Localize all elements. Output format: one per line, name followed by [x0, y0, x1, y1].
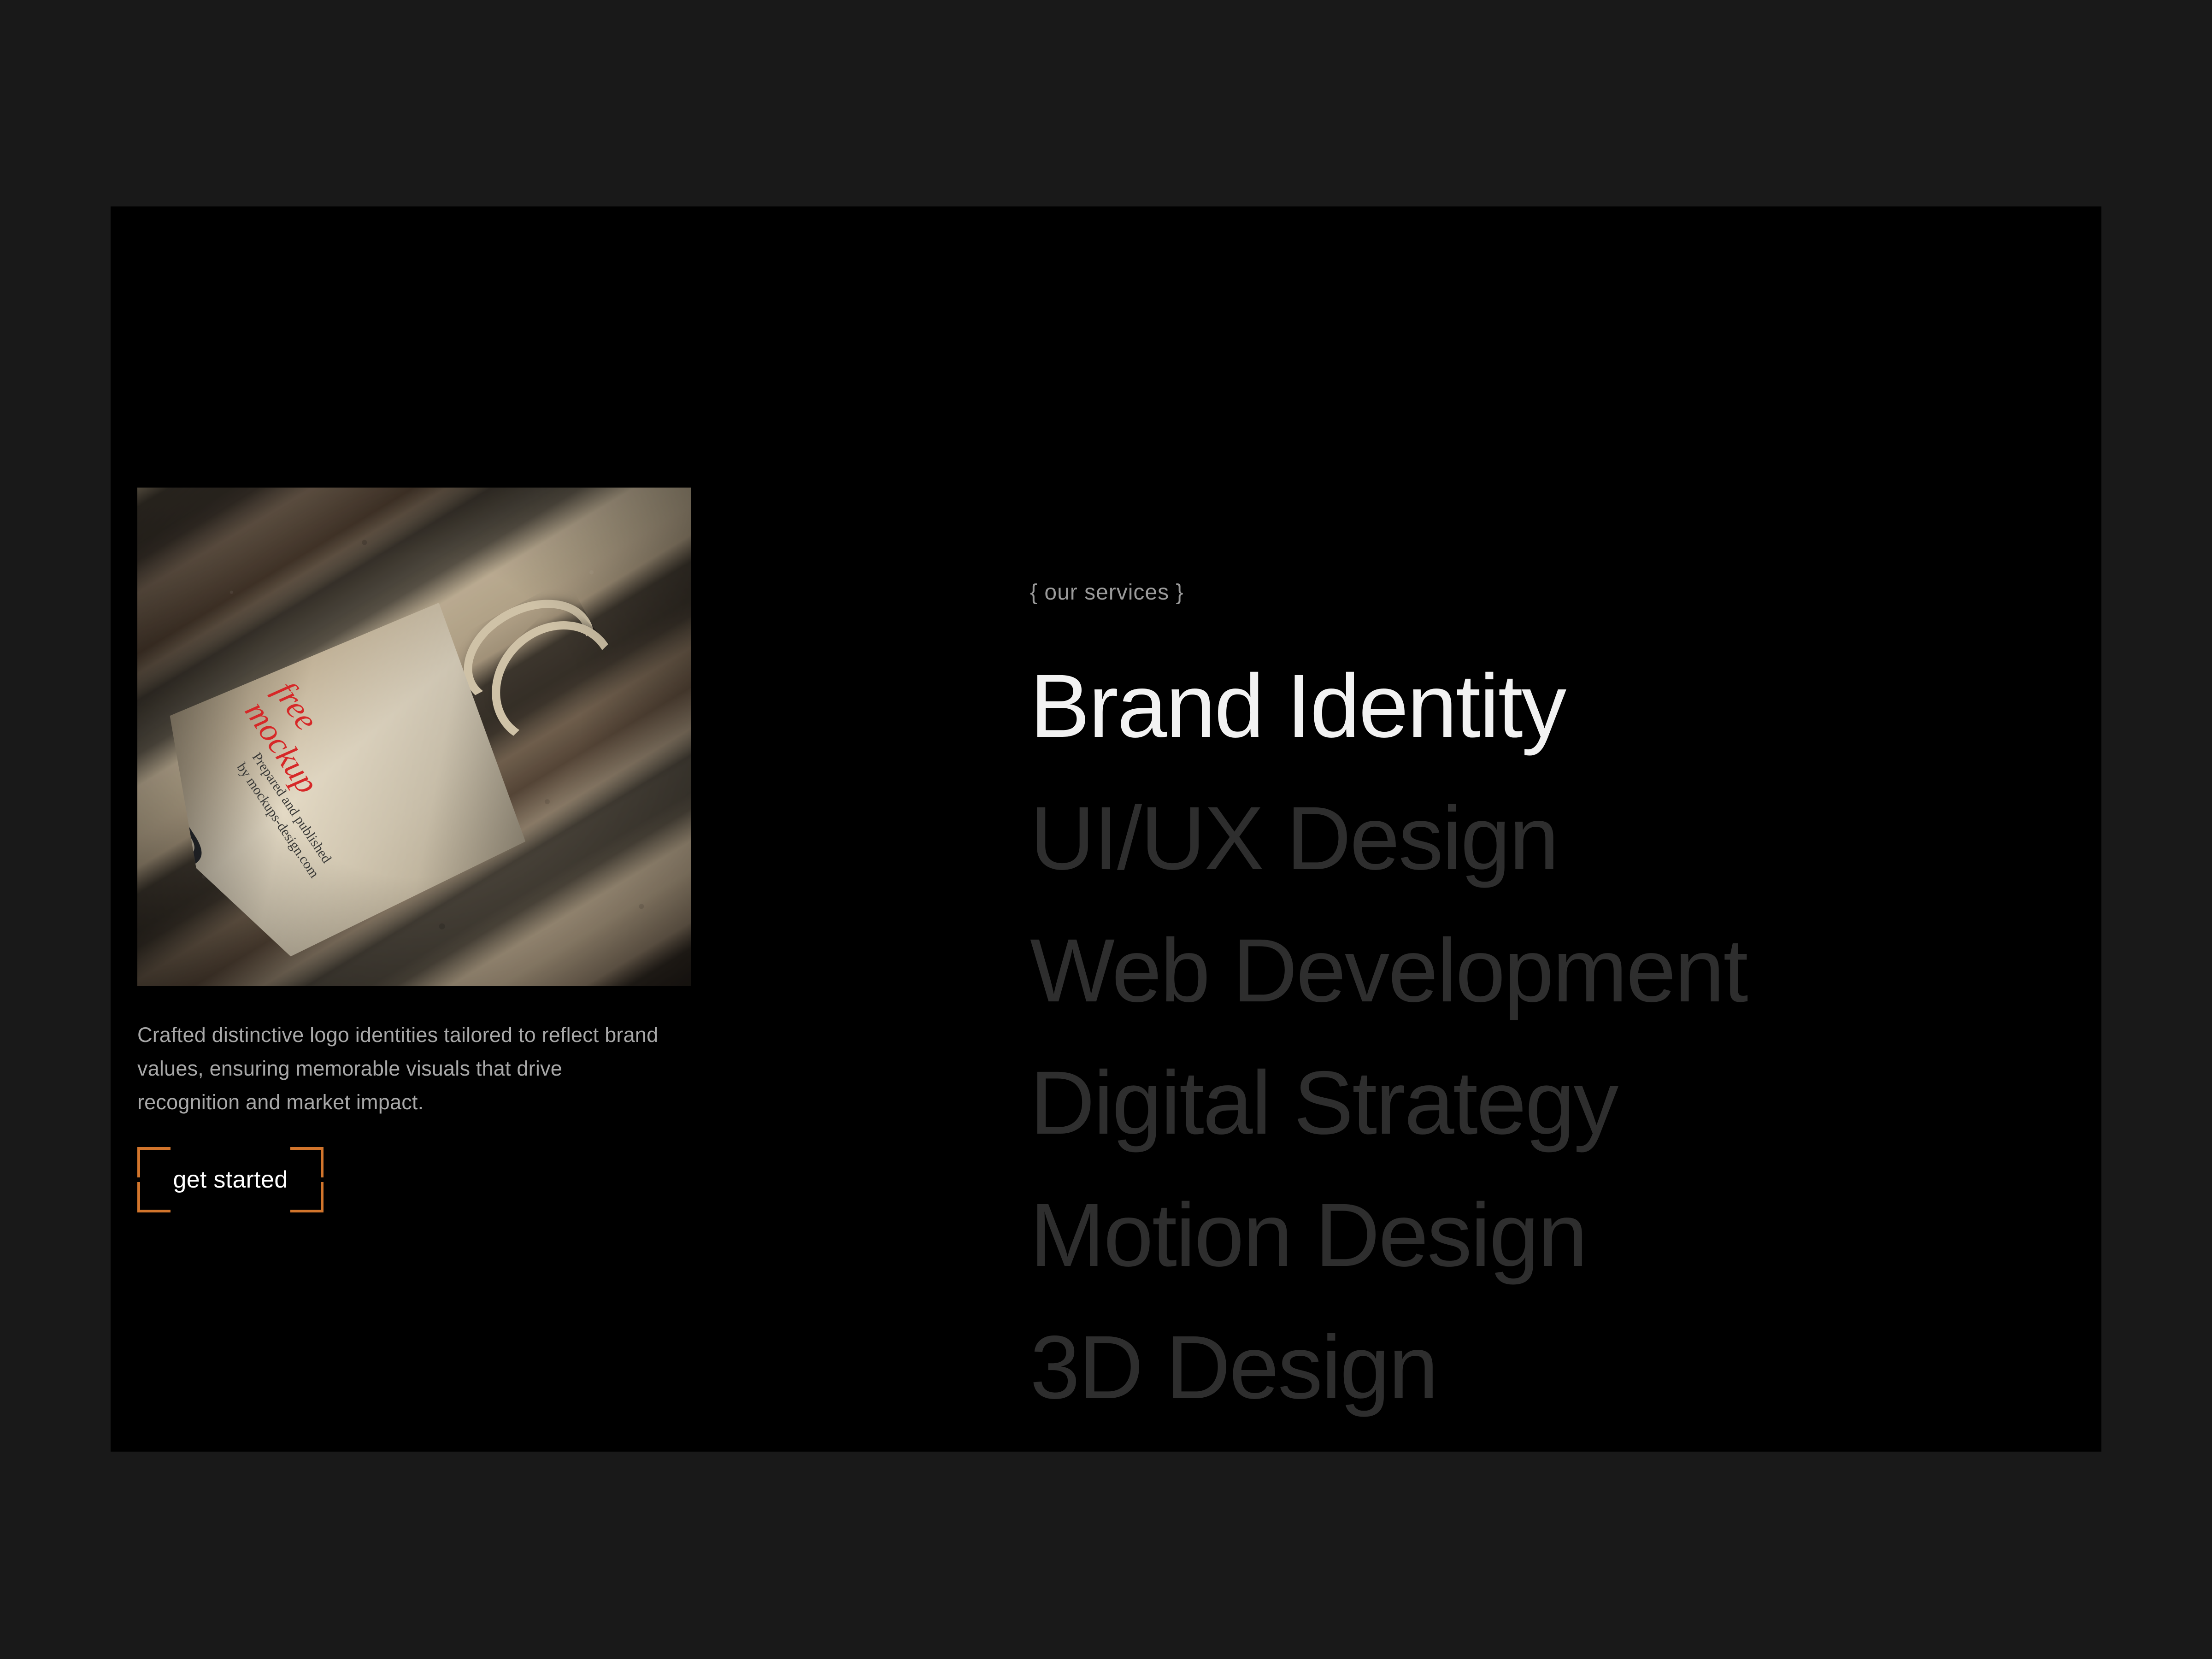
- service-item-3d-design[interactable]: 3D Design: [1030, 1323, 2136, 1412]
- services-list: Brand Identity UI/UX Design Web Developm…: [1030, 661, 2136, 1412]
- service-item-ui-ux-design[interactable]: UI/UX Design: [1030, 794, 2136, 883]
- service-preview-image: Bag freemockup Prepared and published by…: [137, 488, 691, 986]
- get-started-label: get started: [137, 1166, 324, 1194]
- services-panel: Bag freemockup Prepared and published by…: [111, 206, 2101, 1452]
- get-started-button[interactable]: get started: [137, 1147, 324, 1212]
- image-vignette: [137, 488, 691, 986]
- page-root: Bag freemockup Prepared and published by…: [0, 0, 2212, 1659]
- services-nav-column: { our services } Brand Identity UI/UX De…: [1030, 580, 2136, 1412]
- service-item-web-development[interactable]: Web Development: [1030, 926, 2136, 1016]
- service-item-digital-strategy[interactable]: Digital Strategy: [1030, 1058, 2136, 1148]
- service-description: Crafted distinctive logo identities tail…: [137, 1018, 667, 1119]
- section-eyebrow: { our services }: [1030, 580, 2136, 605]
- service-item-brand-identity[interactable]: Brand Identity: [1030, 661, 2136, 751]
- service-detail-column: Bag freemockup Prepared and published by…: [137, 488, 718, 1212]
- service-item-motion-design[interactable]: Motion Design: [1030, 1190, 2136, 1280]
